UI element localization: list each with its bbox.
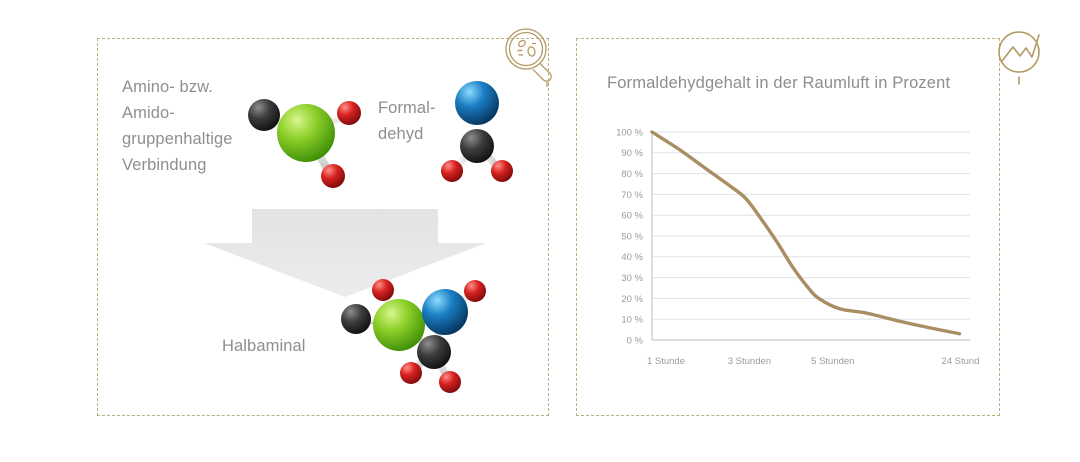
chart-y-tick-label: 80 % (621, 169, 643, 180)
product-label: Halbaminal (222, 337, 306, 356)
molecule-amino-compound (238, 86, 368, 194)
chart-title: Formaldehydgehalt in der Raumluft in Pro… (607, 74, 950, 93)
chart-x-tick-label: 1 Stunde (647, 356, 685, 367)
chart-y-tick-label: 40 % (621, 252, 643, 263)
chart-y-tick-label: 30 % (621, 273, 643, 284)
chart-x-tick-label: 5 Stunden (811, 356, 854, 367)
chart-y-tick-label: 100 % (616, 127, 643, 138)
chart-data-line (652, 132, 960, 334)
chart-y-tick-label: 50 % (621, 231, 643, 242)
chart-x-axis-labels: 1 Stunde3 Stunden5 Stunden24 Stunden (647, 356, 980, 367)
chart-y-tick-label: 10 % (621, 315, 643, 326)
molecule-hemiaminal (330, 272, 505, 402)
chart-y-tick-label: 70 % (621, 190, 643, 201)
chart-y-tick-label: 0 % (627, 335, 644, 346)
chart-x-tick-label: 24 Stunden (941, 356, 980, 367)
chart-y-tick-label: 60 % (621, 211, 643, 222)
chart-y-tick-label: 20 % (621, 294, 643, 305)
molecule-formaldehyde (437, 72, 517, 190)
chart-y-axis-labels: 100 %90 %80 %70 %60 %50 %40 %30 %20 %10 … (616, 127, 643, 346)
trend-chart-circle-icon (991, 25, 1053, 87)
chart-x-tick-label: 3 Stunden (728, 356, 771, 367)
line-chart: 100 %90 %80 %70 %60 %50 %40 %30 %20 %10 … (600, 118, 980, 380)
chart-y-tick-label: 90 % (621, 148, 643, 159)
